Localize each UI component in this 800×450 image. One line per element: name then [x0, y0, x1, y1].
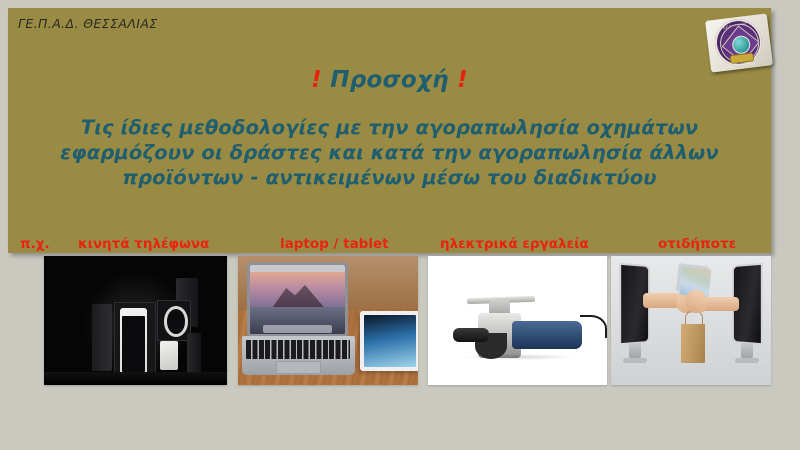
body-line-3: προϊόντων - αντικειμένων μέσω του διαδικ…	[32, 165, 747, 190]
phone-photo-charger-adapter	[160, 341, 177, 369]
caption-anything: οτιδήποτε	[658, 236, 736, 252]
laptop-trackpad	[276, 361, 321, 375]
photo-mobile-phone	[44, 256, 227, 385]
grinder-power-cord	[580, 315, 607, 338]
photo-online-purchase	[611, 256, 771, 385]
exclamation-left-icon: !	[311, 67, 322, 93]
phone-photo-handset	[120, 308, 147, 378]
badge-card: ΕΛΛΗΝΙΚΗ ΑΣΤΥΝΟΜΙΑ	[705, 13, 773, 72]
body-paragraph: Τις ίδιες μεθοδολογίες με την αγοραπωλησ…	[32, 115, 747, 190]
hellenic-police-badge: ΕΛΛΗΝΙΚΗ ΑΣΤΥΝΟΜΙΑ	[705, 13, 773, 72]
right-monitor-stand	[741, 343, 753, 359]
right-monitor-foot	[735, 358, 759, 363]
exclamation-right-icon: !	[457, 67, 468, 93]
grinder-shadow	[464, 354, 575, 360]
badge-outer-ring: ΕΛΛΗΝΙΚΗ ΑΣΤΥΝΟΜΙΑ	[712, 16, 764, 68]
caption-mobile-phones: κινητά τηλέφωνα	[78, 236, 209, 252]
laptop-photo-display	[250, 265, 345, 334]
right-monitor	[731, 264, 763, 359]
tablet-screen	[364, 315, 415, 366]
phone-photo-coiled-cable	[164, 306, 188, 337]
photo-power-tool	[428, 256, 607, 385]
organization-title: ΓΕ.Π.Α.Δ. ΘΕΣΣΑΛΙΑΣ	[18, 16, 158, 31]
buyer-hand	[686, 290, 707, 313]
phone-photo-screen	[122, 316, 145, 372]
tablet-device	[360, 311, 418, 370]
left-monitor-stand	[629, 343, 641, 359]
attention-headline-text: Προσοχή	[330, 67, 449, 93]
laptop-photo-lid	[247, 262, 348, 337]
left-monitor	[619, 264, 651, 359]
grinder-side-handle	[453, 328, 489, 342]
phone-photo-right-box	[187, 333, 202, 373]
olive-content-panel: ΓΕ.Π.Α.Δ. ΘΕΣΣΑΛΙΑΣ ΕΛΛΗΝΙΚΗ ΑΣΤΥΝΟΜΙΑ !…	[8, 8, 771, 253]
attention-headline: ! Προσοχή !	[8, 67, 771, 93]
laptop-menubar	[250, 265, 345, 271]
laptop-keyboard	[246, 340, 350, 359]
body-line-1: Τις ίδιες μεθοδολογίες με την αγοραπωλησ…	[32, 115, 747, 140]
grinder-motor-body	[512, 321, 582, 349]
laptop-dock	[263, 325, 331, 333]
slide: ΓΕ.Π.Α.Δ. ΘΕΣΣΑΛΙΑΣ ΕΛΛΗΝΙΚΗ ΑΣΤΥΝΟΜΙΑ !…	[0, 0, 800, 450]
photo-laptop-tablet	[238, 256, 418, 385]
caption-power-tools: ηλεκτρικά εργαλεία	[440, 236, 589, 252]
phone-photo-floor	[44, 372, 227, 385]
shopping-bag-icon	[681, 324, 705, 363]
caption-row: π.χ. κινητά τηλέφωνα laptop / tablet ηλε…	[16, 236, 779, 258]
body-line-2: εφαρμόζουν οι δράστες και κατά την αγορα…	[32, 140, 747, 165]
laptop-photo-base	[242, 336, 355, 375]
caption-example-prefix: π.χ.	[20, 236, 50, 252]
caption-laptop-tablet: laptop / tablet	[280, 236, 389, 252]
left-monitor-foot	[623, 358, 647, 363]
phone-photo-left-box	[92, 304, 112, 371]
